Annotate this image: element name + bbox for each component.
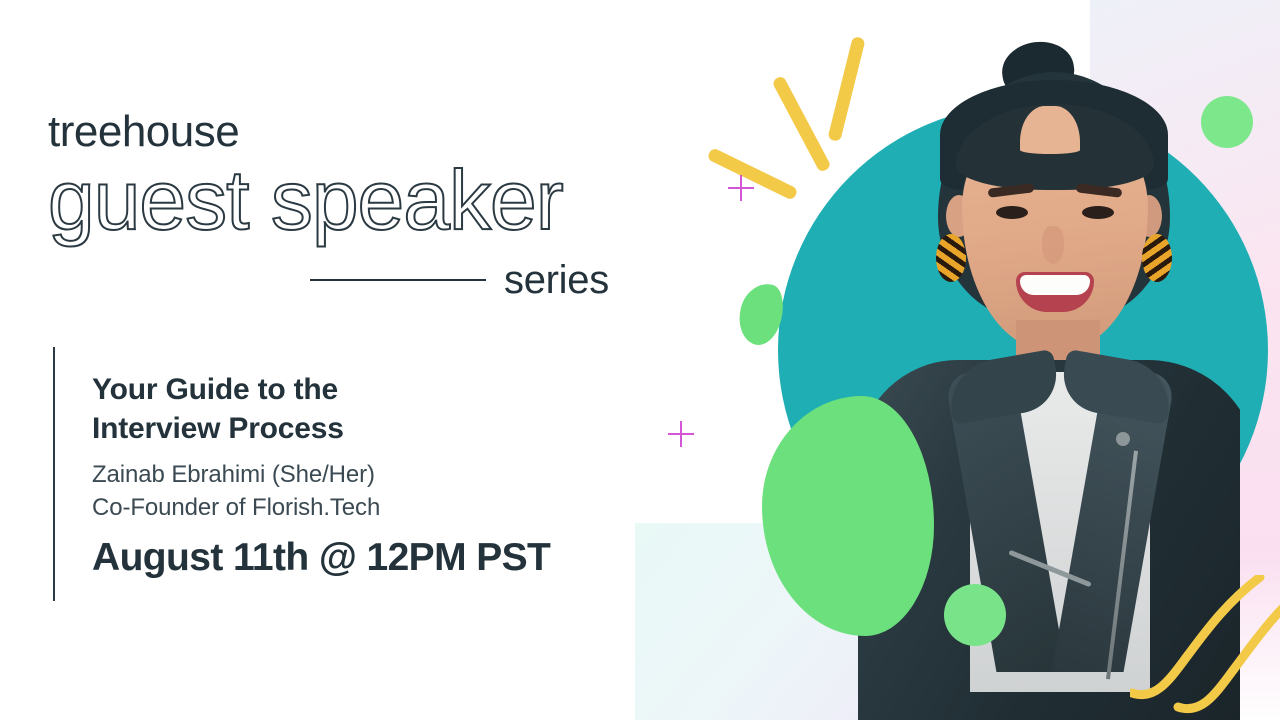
eye-right <box>1082 206 1114 219</box>
wavy-line-1 <box>1132 577 1260 695</box>
plus-mark-icon-upper <box>728 175 754 201</box>
sparkle-strokes-icon <box>740 30 900 220</box>
sparkle-stroke-1 <box>827 36 865 142</box>
earring-left <box>936 234 966 282</box>
sparkle-stroke-2 <box>771 75 831 173</box>
nose <box>1042 226 1064 264</box>
earring-right <box>1142 234 1172 282</box>
promo-slide: treehouse guest speaker series Your Guid… <box>0 0 1280 720</box>
speaker-name: Zainab Ebrahimi (She/Her) <box>92 461 375 489</box>
eye-left <box>996 206 1028 219</box>
brand-name: treehouse <box>48 107 239 157</box>
series-divider-rule <box>310 279 486 281</box>
session-title-line-2: Interview Process <box>92 409 562 448</box>
session-title: Your Guide to the Interview Process <box>92 370 562 448</box>
plus-mark-icon-lower <box>668 421 694 447</box>
green-circle-bottom <box>944 584 1006 646</box>
session-title-line-1: Your Guide to the <box>92 370 562 409</box>
wavy-line-icon-group <box>1130 575 1280 720</box>
speaker-role: Co-Founder of Florish.Tech <box>92 494 380 522</box>
event-datetime: August 11th @ 12PM PST <box>92 536 550 580</box>
vertical-accent-rule <box>53 347 55 601</box>
teeth <box>1020 275 1090 295</box>
series-row: series <box>310 255 625 305</box>
series-label: series <box>504 258 609 303</box>
jacket-stud <box>1116 432 1130 446</box>
headline-outline-text: guest speaker <box>48 156 563 244</box>
